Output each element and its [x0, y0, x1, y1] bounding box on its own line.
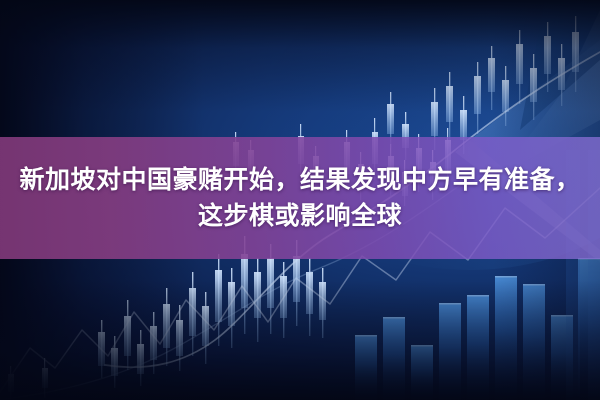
promo-banner-image: 新加坡对中国豪赌开始，结果发现中方早有准备， 这步棋或影响全球	[0, 0, 600, 400]
headline-line-1: 新加坡对中国豪赌开始，结果发现中方早有准备，	[19, 164, 580, 196]
headline-line-2: 这步棋或影响全球	[198, 200, 402, 232]
headline-banner: 新加坡对中国豪赌开始，结果发现中方早有准备， 这步棋或影响全球	[0, 137, 600, 259]
